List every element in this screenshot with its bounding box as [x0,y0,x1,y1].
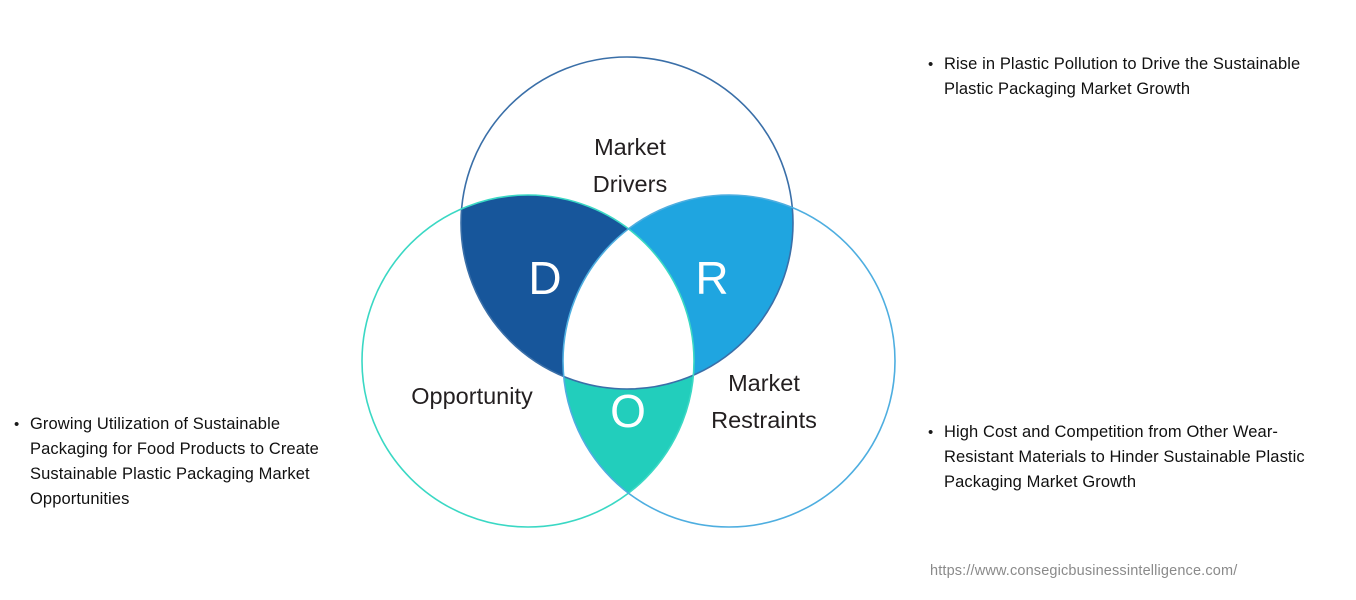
venn-letter-o: O [610,385,646,437]
bullet-icon: • [14,412,21,437]
venn-letter-r: R [695,252,728,304]
callout-market-restraints: • High Cost and Competition from Other W… [928,420,1338,495]
callout-opportunity-text: Growing Utilization of Sustainable Packa… [30,412,344,512]
callout-market-drivers: • Rise in Plastic Pollution to Drive the… [928,52,1336,102]
venn-label-drivers-line1: Market [594,134,666,160]
callout-market-drivers-text: Rise in Plastic Pollution to Drive the S… [944,52,1336,102]
bullet-icon: • [928,420,935,445]
venn-label-restraints-line1: Market [728,370,800,396]
venn-letter-d: D [528,252,561,304]
callout-opportunity: • Growing Utilization of Sustainable Pac… [14,412,344,512]
callout-market-restraints-text: High Cost and Competition from Other Wea… [944,420,1338,495]
source-url[interactable]: https://www.consegicbusinessintelligence… [930,563,1237,579]
venn-diagram: D R O Market Drivers Opportunity Market … [340,40,920,560]
bullet-icon: • [928,52,935,77]
venn-label-opportunity-line1: Opportunity [411,383,533,409]
venn-label-restraints-line2: Restraints [711,407,817,433]
venn-label-drivers-line2: Drivers [593,171,667,197]
